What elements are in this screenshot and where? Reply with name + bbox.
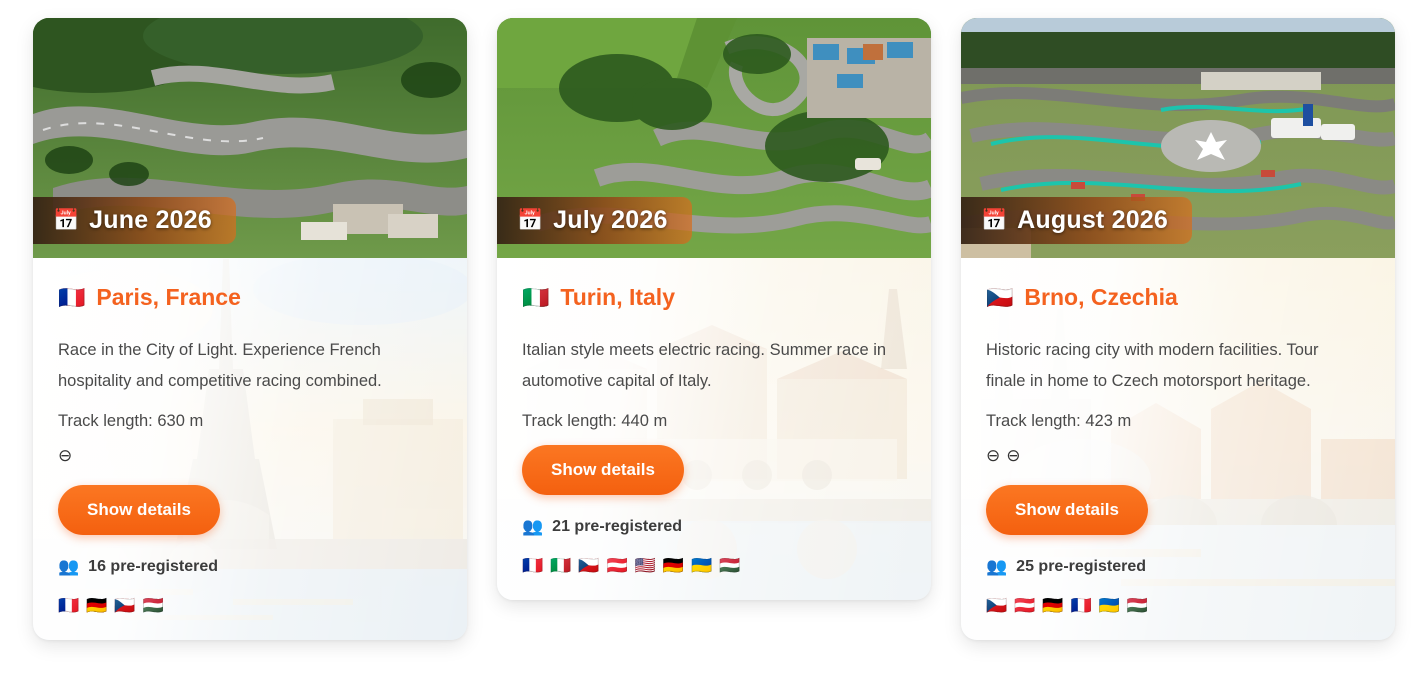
- participant-flag-icon: 🇦🇹: [1014, 597, 1035, 614]
- people-icon: 👥: [58, 557, 78, 577]
- event-card[interactable]: 📅 July 2026: [497, 18, 931, 600]
- participant-flag-icon: 🇦🇹: [607, 557, 628, 574]
- participant-flag-icon: 🇭🇺: [719, 557, 740, 574]
- show-details-button[interactable]: Show details: [58, 485, 220, 535]
- participant-flag-icon: 🇩🇪: [1042, 597, 1063, 614]
- card-body: 🇫🇷 Paris, France Race in the City of Lig…: [33, 258, 467, 640]
- event-card[interactable]: 📅 June 2026: [33, 18, 467, 640]
- track-length: Track length: 440 m: [522, 412, 907, 431]
- city-title: 🇮🇹 Turin, Italy: [522, 284, 907, 311]
- calendar-icon: 📅: [53, 210, 79, 231]
- date-label: August 2026: [1017, 206, 1168, 235]
- city-name: Paris, France: [96, 284, 240, 311]
- calendar-icon: 📅: [517, 210, 543, 231]
- pre-registered-count-label: 21 pre-registered: [552, 518, 682, 536]
- country-flag-icon: 🇮🇹: [522, 287, 549, 309]
- city-title: 🇫🇷 Paris, France: [58, 284, 443, 311]
- people-icon: 👥: [522, 517, 542, 537]
- country-flag-icon: 🇨🇿: [986, 287, 1013, 309]
- date-badge: 📅 August 2026: [961, 197, 1192, 244]
- participant-flags-strip: 🇨🇿 🇦🇹 🇩🇪 🇫🇷 🇺🇦 🇭🇺: [986, 597, 1371, 614]
- calendar-icon: 📅: [981, 210, 1007, 231]
- participant-flag-icon: 🇺🇦: [1099, 597, 1120, 614]
- people-icon: 👥: [986, 557, 1006, 577]
- participant-flag-icon: 🇨🇿: [986, 597, 1007, 614]
- event-description: Italian style meets electric racing. Sum…: [522, 335, 897, 396]
- event-description: Race in the City of Light. Experience Fr…: [58, 335, 433, 396]
- award-icon: ⊖: [1006, 446, 1020, 466]
- participant-flags-strip: 🇫🇷 🇮🇹 🇨🇿 🇦🇹 🇺🇸 🇩🇪 🇺🇦 🇭🇺: [522, 557, 907, 574]
- participant-flag-icon: 🇫🇷: [58, 597, 79, 614]
- pre-registered-row: 👥 21 pre-registered: [522, 517, 907, 537]
- country-flag-icon: 🇫🇷: [58, 287, 85, 309]
- pre-registered-count-label: 16 pre-registered: [88, 558, 218, 576]
- date-label: June 2026: [89, 206, 212, 235]
- participant-flag-icon: 🇨🇿: [578, 557, 599, 574]
- event-cards-row: 📅 June 2026: [0, 0, 1416, 640]
- participant-flag-icon: 🇺🇸: [635, 557, 656, 574]
- pre-registered-row: 👥 25 pre-registered: [986, 557, 1371, 577]
- city-name: Turin, Italy: [560, 284, 675, 311]
- date-label: July 2026: [553, 206, 667, 235]
- card-body: 🇨🇿 Brno, Czechia Historic racing city wi…: [961, 258, 1395, 640]
- participant-flag-icon: 🇩🇪: [86, 597, 107, 614]
- participant-flag-icon: 🇮🇹: [550, 557, 571, 574]
- city-name: Brno, Czechia: [1024, 284, 1177, 311]
- pre-registered-count-label: 25 pre-registered: [1016, 558, 1146, 576]
- hero-image-turin: 📅 July 2026: [497, 18, 931, 258]
- award-icons-row: ⊖: [58, 445, 443, 467]
- participant-flag-icon: 🇫🇷: [1071, 597, 1092, 614]
- award-icons-row: ⊖ ⊖: [986, 445, 1371, 467]
- participant-flag-icon: 🇫🇷: [522, 557, 543, 574]
- track-length: Track length: 423 m: [986, 412, 1371, 431]
- participant-flag-icon: 🇭🇺: [1127, 597, 1148, 614]
- show-details-button[interactable]: Show details: [986, 485, 1148, 535]
- event-description: Historic racing city with modern facilit…: [986, 335, 1361, 396]
- participant-flag-icon: 🇭🇺: [143, 597, 164, 614]
- date-badge: 📅 July 2026: [497, 197, 692, 244]
- participant-flag-icon: 🇨🇿: [114, 597, 135, 614]
- participant-flags-strip: 🇫🇷 🇩🇪 🇨🇿 🇭🇺: [58, 597, 443, 614]
- pre-registered-row: 👥 16 pre-registered: [58, 557, 443, 577]
- card-body: 🇮🇹 Turin, Italy Italian style meets elec…: [497, 258, 931, 600]
- award-icon: ⊖: [986, 446, 1000, 466]
- event-card[interactable]: 📅 August 2026: [961, 18, 1395, 640]
- hero-image-brno: 📅 August 2026: [961, 18, 1395, 258]
- show-details-button[interactable]: Show details: [522, 445, 684, 495]
- city-title: 🇨🇿 Brno, Czechia: [986, 284, 1371, 311]
- hero-image-paris: 📅 June 2026: [33, 18, 467, 258]
- participant-flag-icon: 🇩🇪: [663, 557, 684, 574]
- award-icon: ⊖: [58, 446, 72, 466]
- participant-flag-icon: 🇺🇦: [691, 557, 712, 574]
- track-length: Track length: 630 m: [58, 412, 443, 431]
- date-badge: 📅 June 2026: [33, 197, 236, 244]
